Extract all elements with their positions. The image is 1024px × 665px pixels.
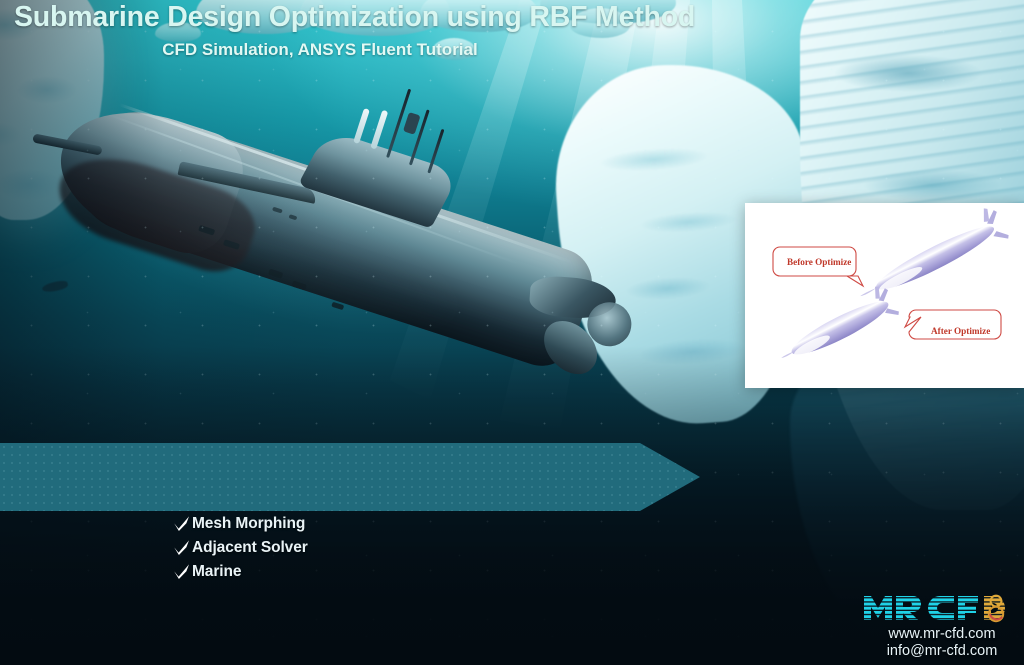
check-icon — [172, 514, 191, 533]
page-subtitle: CFD Simulation, ANSYS Fluent Tutorial — [0, 40, 640, 60]
list-item-label: Adjacent Solver — [192, 539, 308, 557]
callout-before-label: Before Optimize — [787, 257, 851, 267]
contact-email[interactable]: info@mr-cfd.com — [862, 643, 1022, 660]
list-item-label: Mesh Morphing — [192, 515, 305, 533]
website-url[interactable]: www.mr-cfd.com — [862, 626, 1022, 643]
inset-diagram: Before Optimize After Optimize — [745, 203, 1024, 388]
callout-after-label: After Optimize — [931, 326, 990, 336]
callout-after-optimize: After Optimize — [905, 310, 1001, 339]
brand-block: www.mr-cfd.com info@mr-cfd.com — [862, 590, 1022, 660]
poster-canvas: Before Optimize After Optimize Submarine… — [0, 0, 1024, 665]
title-banner — [0, 443, 700, 511]
page-title: Submarine Design Optimization using RBF … — [14, 1, 695, 34]
check-icon — [172, 562, 191, 581]
list-item: Adjacent Solver — [172, 536, 492, 559]
list-item: Marine — [172, 560, 492, 583]
check-icon — [172, 538, 191, 557]
optimization-result-inset: Before Optimize After Optimize — [745, 203, 1024, 388]
list-item: Mesh Morphing — [172, 512, 492, 535]
mr-cfd-logo-icon — [862, 590, 1022, 626]
banner-texture — [0, 443, 700, 511]
list-item-label: Marine — [192, 563, 241, 581]
feature-list: Mesh Morphing Adjacent Solver Marine — [172, 512, 492, 584]
